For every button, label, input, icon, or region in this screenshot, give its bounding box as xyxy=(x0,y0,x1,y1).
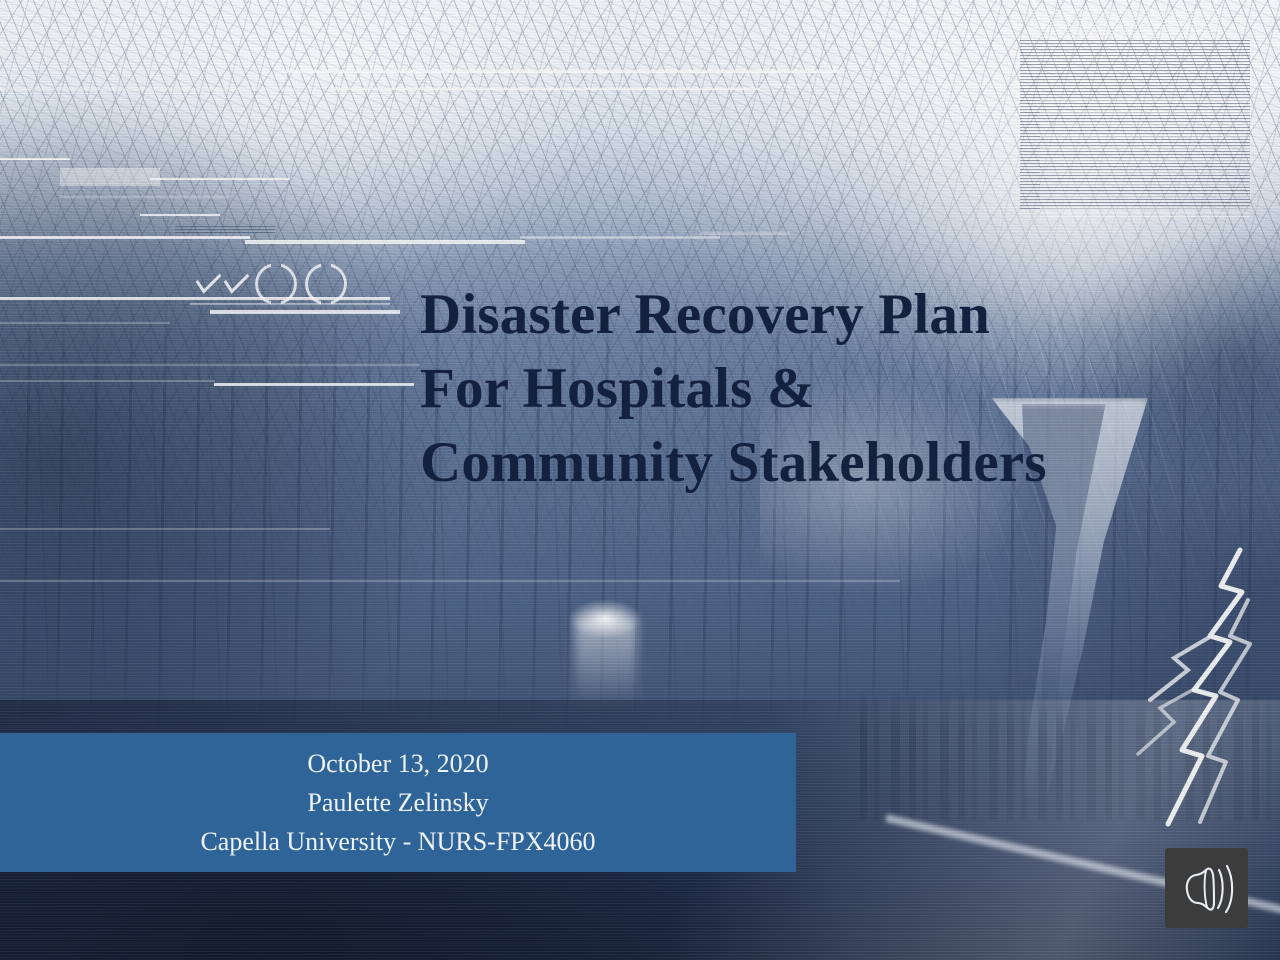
subtitle-box: October 13, 2020 Paulette Zelinsky Capel… xyxy=(0,733,796,872)
title-line-2: For Hospitals & xyxy=(420,352,1180,426)
audio-playback-button[interactable] xyxy=(1165,848,1248,928)
title-line-1: Disaster Recovery Plan xyxy=(420,278,1180,352)
title-slide: Disaster Recovery Plan For Hospitals & C… xyxy=(0,0,1280,960)
speaker-audio-icon xyxy=(1176,859,1238,917)
subtitle-course: Capella University - NURS-FPX4060 xyxy=(200,822,595,861)
subtitle-date: October 13, 2020 xyxy=(307,744,488,783)
slide-title: Disaster Recovery Plan For Hospitals & C… xyxy=(420,278,1180,500)
subtitle-author: Paulette Zelinsky xyxy=(307,783,488,822)
title-line-3: Community Stakeholders xyxy=(420,426,1180,500)
